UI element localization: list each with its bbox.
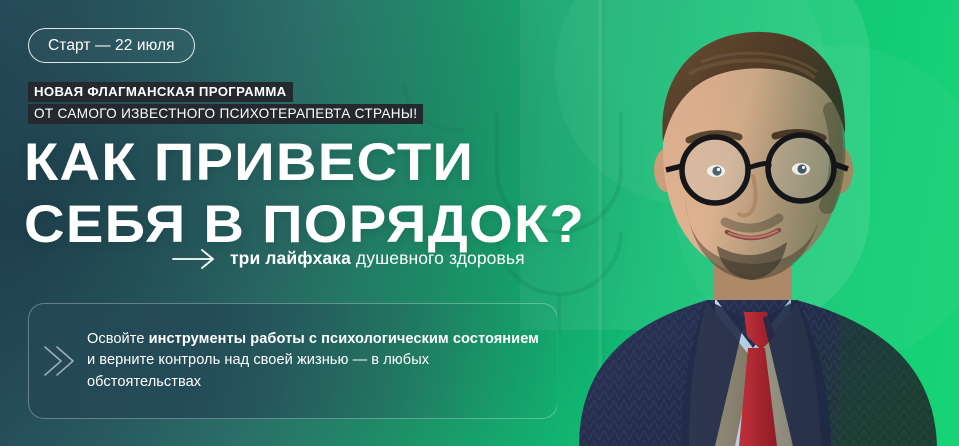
page-title: КАК ПРИВЕСТИ СЕБЯ В ПОРЯДОК? (24, 132, 553, 256)
callout-box: Освойте инструменты работы с психологиче… (28, 303, 558, 419)
kicker-line-1: НОВАЯ ФЛАГМАНСКАЯ ПРОГРАММА (28, 82, 293, 102)
arrow-right-icon (172, 249, 216, 269)
callout-segment-1: инструменты работы с психологическим сос… (149, 331, 539, 347)
subtitle-bold: три лайфхака (230, 248, 351, 268)
kicker-block: НОВАЯ ФЛАГМАНСКАЯ ПРОГРАММА ОТ САМОГО ИЗ… (28, 82, 423, 124)
subtitle-rest: душевного здоровья (351, 248, 525, 268)
banner-content: Старт — 22 июля НОВАЯ ФЛАГМАНСКАЯ ПРОГРА… (0, 0, 959, 446)
double-chevron-right-icon (29, 341, 87, 381)
headline-line-2: СЕБЯ В ПОРЯДОК? (24, 194, 585, 256)
callout-segment-0: Освойте (87, 331, 149, 347)
kicker-line-2: ОТ САМОГО ИЗВЕСТНОГО ПСИХОТЕРАПЕВТА СТРА… (28, 104, 423, 124)
subtitle-text: три лайфхака душевного здоровья (230, 248, 525, 269)
start-date-badge: Старт — 22 июля (28, 28, 195, 63)
headline-line-1: КАК ПРИВЕСТИ (24, 132, 585, 194)
subtitle-row: три лайфхака душевного здоровья (172, 248, 525, 269)
promo-banner: Старт — 22 июля НОВАЯ ФЛАГМАНСКАЯ ПРОГРА… (0, 0, 959, 446)
callout-text: Освойте инструменты работы с психологиче… (87, 329, 557, 394)
callout-segment-2: и верните контроль над своей жизнью — в … (87, 352, 429, 390)
